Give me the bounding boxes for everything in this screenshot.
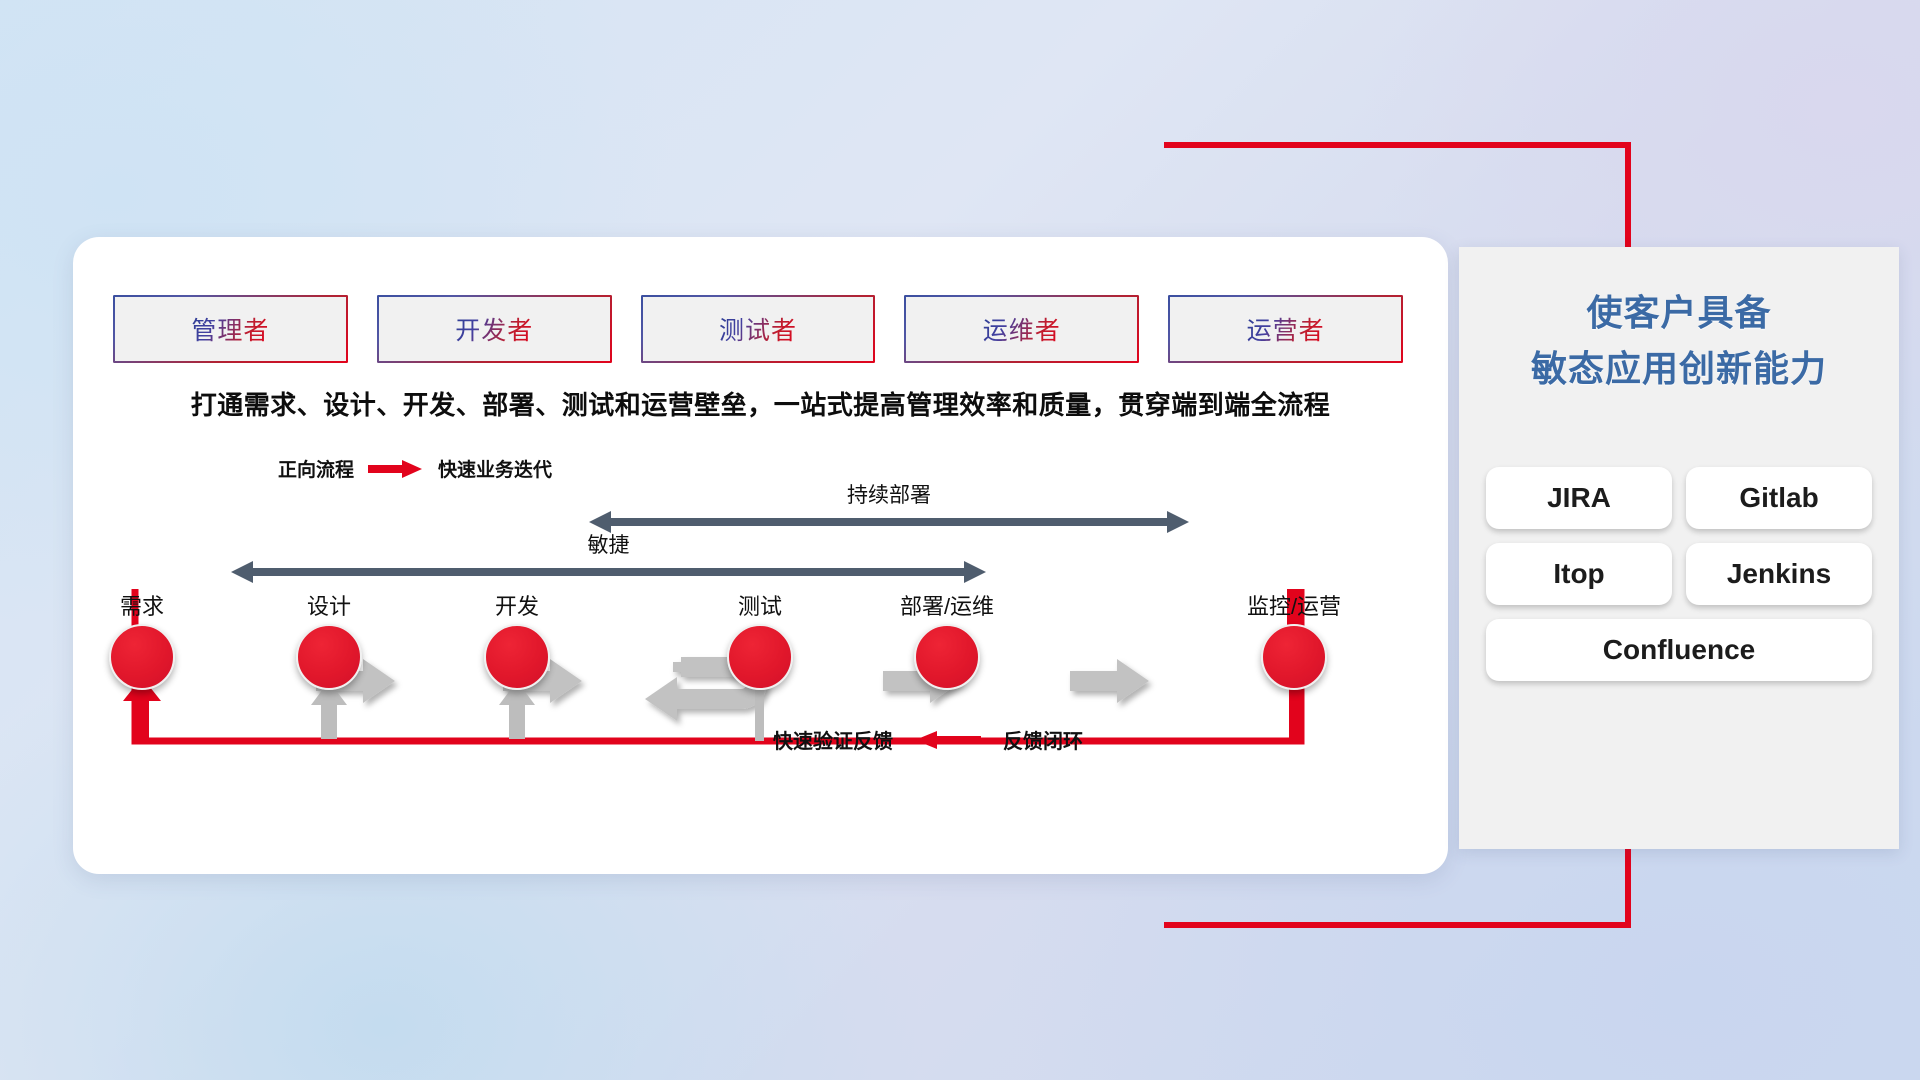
role-box-tester[interactable]: 测试者 (641, 295, 876, 363)
role-label: 开发者 (455, 311, 533, 347)
agile-label: 敏捷 (231, 529, 986, 559)
role-box-row: 管理者 开发者 测试者 运维者 运营者 (113, 295, 1403, 363)
stage-label: 监控/运营 (1229, 589, 1359, 621)
role-label: 管理者 (191, 311, 269, 347)
role-box-operator[interactable]: 运营者 (1168, 295, 1403, 363)
red-arrow-right-icon (368, 459, 424, 479)
stage-deploy-ops[interactable]: 部署/运维 (882, 589, 1012, 690)
main-card: 管理者 开发者 测试者 运维者 运营者 打通需求、设计、开发、部署、测试和运营壁… (73, 237, 1448, 874)
stage-dot (296, 624, 362, 690)
stage-label: 开发 (452, 589, 582, 621)
panel-title: 使客户具备 敏态应用创新能力 (1459, 285, 1899, 397)
tool-chip-list: JIRA Gitlab Itop Jenkins Confluence (1471, 467, 1887, 681)
pipeline: 需求 设计 开发 测试 部署/运维 监控/运营 (73, 589, 1448, 809)
continuous-deploy-label: 持续部署 (589, 479, 1189, 509)
stage-monitor-operate[interactable]: 监控/运营 (1229, 589, 1359, 690)
tool-chip-label: JIRA (1547, 482, 1611, 514)
stage-label: 测试 (695, 589, 825, 621)
tool-chip-label: Confluence (1603, 634, 1755, 666)
role-label: 运营者 (1247, 311, 1325, 347)
stage-dot (1261, 624, 1327, 690)
stage-requirement[interactable]: 需求 (77, 589, 207, 690)
stage-dot (484, 624, 550, 690)
forward-flow-from-label: 正向流程 (278, 455, 354, 482)
feedback-right-label: 反馈闭环 (1003, 725, 1083, 754)
red-stem (1289, 681, 1298, 741)
tool-chip-confluence[interactable]: Confluence (1486, 619, 1872, 681)
role-box-ops[interactable]: 运维者 (904, 295, 1139, 363)
slide-canvas: 管理者 开发者 测试者 运维者 运营者 打通需求、设计、开发、部署、测试和运营壁… (0, 0, 1920, 1080)
stage-label: 需求 (77, 589, 207, 621)
tool-chip-gitlab[interactable]: Gitlab (1686, 467, 1872, 529)
role-label: 运维者 (983, 311, 1061, 347)
stage-dot (914, 624, 980, 690)
panel-title-line1: 使客户具备 (1586, 292, 1771, 333)
stage-label: 部署/运维 (882, 589, 1012, 621)
tool-chip-itop[interactable]: Itop (1486, 543, 1672, 605)
panel-title-line2: 敏态应用创新能力 (1531, 348, 1827, 389)
stage-dot (727, 624, 793, 690)
headline-text: 打通需求、设计、开发、部署、测试和运营壁垒，一站式提高管理效率和质量，贯穿端到端… (73, 385, 1448, 422)
stage-label: 设计 (264, 589, 394, 621)
red-arrow-left-icon (915, 730, 981, 750)
feedback-legend: 快速验证反馈 反馈闭环 (773, 725, 1083, 754)
forward-flow-to-label: 快速业务迭代 (438, 455, 552, 482)
tool-chip-jenkins[interactable]: Jenkins (1686, 543, 1872, 605)
double-arrow-slate-icon (231, 559, 986, 585)
tool-chip-label: Jenkins (1727, 558, 1831, 590)
role-box-developer[interactable]: 开发者 (377, 295, 612, 363)
stage-dot (109, 624, 175, 690)
tool-chip-jira[interactable]: JIRA (1486, 467, 1672, 529)
tool-chip-label: Itop (1553, 558, 1604, 590)
stage-develop[interactable]: 开发 (452, 589, 582, 690)
feedback-left-label: 快速验证反馈 (773, 725, 893, 754)
stage-design[interactable]: 设计 (264, 589, 394, 690)
value-panel: 使客户具备 敏态应用创新能力 JIRA Gitlab Itop Jenkins … (1459, 247, 1899, 849)
role-box-manager[interactable]: 管理者 (113, 295, 348, 363)
forward-flow-legend: 正向流程 快速业务迭代 (278, 455, 552, 482)
grey-stem (755, 681, 764, 741)
role-label: 测试者 (719, 311, 797, 347)
tool-chip-label: Gitlab (1739, 482, 1818, 514)
stage-test[interactable]: 测试 (695, 589, 825, 690)
